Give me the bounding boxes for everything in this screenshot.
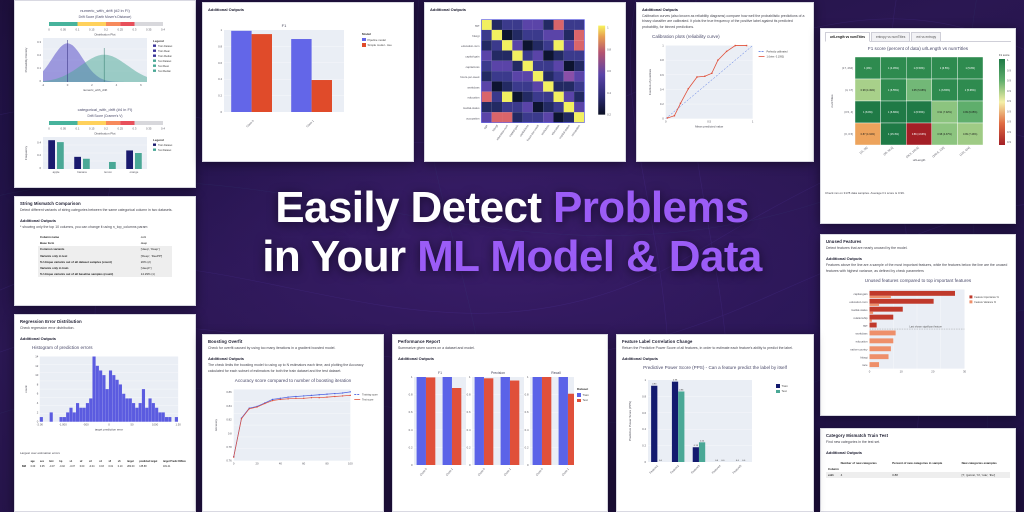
- svg-text:10: 10: [900, 370, 904, 374]
- svg-text:0: 0: [48, 28, 50, 32]
- svg-text:0.5: 0.5: [707, 120, 711, 124]
- svg-text:0.1: 0.1: [76, 127, 80, 131]
- svg-text:Mean predicted value: Mean predicted value: [695, 125, 724, 129]
- svg-text:Class 1: Class 1: [445, 467, 454, 477]
- svg-text:0.4: 0.4: [37, 140, 41, 144]
- drift-score-label: Drift Score (Earth Mover's Distance): [19, 15, 191, 19]
- svg-text:0.99: 0.99: [1007, 79, 1011, 83]
- flc-desc: Return the Predictive Power Score of all…: [622, 346, 808, 351]
- svg-text:0.4: 0.4: [161, 127, 165, 131]
- svg-text:6: 6: [37, 392, 39, 396]
- svg-text:0.25: 0.25: [118, 28, 124, 32]
- svg-text:Class 0: Class 0: [535, 467, 544, 477]
- svg-text:0.2: 0.2: [660, 102, 664, 106]
- svg-text:fnlwgt: fnlwgt: [491, 124, 499, 132]
- legend-item: Test: [577, 398, 589, 402]
- svg-text:Test Mean: Test Mean: [158, 65, 170, 68]
- cell: 0.10: [116, 464, 125, 469]
- svg-text:0.995: 0.995: [1007, 69, 1011, 73]
- svg-text:Feature3: Feature3: [690, 464, 701, 475]
- svg-text:Train Dataset: Train Dataset: [158, 45, 173, 48]
- svg-text:0.87 (4.34%): 0.87 (4.34%): [861, 133, 875, 136]
- svg-text:1 (8.9%): 1 (8.9%): [863, 111, 873, 114]
- boosting-desc2: The check limits the boosting model to u…: [208, 363, 378, 374]
- drift-chart: numeric_with_drift (#2 in FI)Drift Score…: [19, 8, 191, 103]
- svg-text:0.86 (4.63%): 0.86 (4.63%): [912, 133, 926, 136]
- f1-bar-card[interactable]: Additional Outputs F1Class 0Class 100.20…: [202, 2, 414, 162]
- svg-text:Recall: Recall: [551, 371, 561, 375]
- svg-text:0.97: 0.97: [1007, 120, 1011, 124]
- svg-text:Class 1: Class 1: [503, 467, 512, 477]
- svg-text:(130, 494]: (130, 494]: [959, 146, 971, 157]
- svg-text:0: 0: [48, 127, 50, 131]
- regression-error-title: Regression Error Distribution: [20, 319, 190, 324]
- svg-text:native-country: native-country: [850, 348, 868, 352]
- svg-text:age: age: [475, 24, 480, 28]
- svg-text:1: 1: [527, 375, 529, 379]
- f1-bar-legend: Pipeline modelSimple model - tree: [362, 38, 392, 48]
- headline-line2-accent: ML Model & Data: [417, 232, 762, 281]
- svg-text:Feature1: Feature1: [648, 464, 659, 475]
- cell: 0.00: [29, 464, 38, 469]
- svg-text:0.05: 0.05: [61, 127, 67, 131]
- svg-text:Feature4: Feature4: [711, 464, 722, 475]
- f1-bar-chart: F1Class 0Class 100.20.40.60.81: [208, 18, 358, 136]
- cell: 4: [839, 472, 891, 478]
- svg-text:0.8: 0.8: [409, 393, 413, 397]
- correlation-heatmap-card[interactable]: Additional Outputs agefnlwgteducation-nu…: [424, 2, 626, 162]
- svg-text:0.84: 0.84: [226, 404, 232, 408]
- cell: col1: [826, 472, 839, 478]
- svg-text:0.1: 0.1: [76, 28, 80, 32]
- f1-bar-subheading: Additional Outputs: [208, 7, 408, 12]
- svg-text:2: 2: [91, 83, 93, 87]
- svg-text:orange: orange: [130, 170, 139, 174]
- svg-text:Feature2: Feature2: [669, 464, 680, 475]
- svg-text:0: 0: [108, 423, 110, 427]
- svg-text:0.25: 0.25: [118, 127, 124, 131]
- svg-text:0: 0: [527, 463, 529, 467]
- svg-text:F1: F1: [282, 23, 287, 28]
- svg-text:education: education: [856, 340, 868, 344]
- svg-text:0: 0: [644, 460, 646, 464]
- performance-title: Performance Report: [398, 339, 602, 344]
- svg-text:fnlwgt: fnlwgt: [860, 356, 867, 360]
- svg-text:relationship: relationship: [853, 316, 868, 320]
- category-mismatch-subheading: Additional Outputs: [826, 450, 1010, 455]
- svg-text:8: 8: [37, 383, 39, 387]
- f1-bar-legend-title: Model: [362, 32, 392, 36]
- headline-line2-white: in Your: [262, 232, 417, 281]
- category-mismatch-card[interactable]: Category Mismatch Train Test Find new ca…: [820, 428, 1016, 512]
- svg-text:1 (6.55%): 1 (6.55%): [888, 89, 899, 92]
- calibration-plot-title: Calibration plots (reliability curve): [642, 34, 808, 39]
- svg-text:Train Mean: Train Mean: [158, 50, 171, 53]
- svg-text:Legend: Legend: [153, 39, 164, 43]
- tab-1[interactable]: entropy vs numTitles: [871, 32, 910, 41]
- svg-text:(0.5, 4]: (0.5, 4]: [844, 110, 853, 114]
- pps-bar-chart: 0.930.0Feature10.980.86Feature20.180.24F…: [622, 372, 774, 480]
- svg-text:Distribution Plot: Distribution Plot: [94, 132, 115, 136]
- svg-text:Accuracy: Accuracy: [214, 419, 218, 432]
- boosting-desc: Check for overfit caused by using too ma…: [208, 346, 378, 351]
- svg-text:1: 1: [752, 120, 754, 124]
- svg-text:80: 80: [325, 462, 329, 466]
- svg-text:0: 0: [469, 463, 471, 467]
- svg-text:0: 0: [411, 463, 413, 467]
- svg-text:race: race: [862, 364, 868, 368]
- drift-chart-svg: 00.050.10.150.20.250.30.350.4Distributio…: [19, 20, 191, 98]
- svg-text:capital-loss: capital-loss: [466, 65, 480, 69]
- headline-line-2: in Your ML Model & Data: [0, 232, 1024, 281]
- svg-text:0.76: 0.76: [226, 459, 232, 463]
- svg-text:education-num: education-num: [849, 300, 868, 304]
- svg-text:0.2: 0.2: [218, 94, 222, 98]
- svg-text:-500: -500: [83, 423, 89, 427]
- svg-text:Class 0: Class 0: [419, 467, 428, 477]
- performance-legend: TrainTest: [577, 393, 589, 403]
- regression-error-card[interactable]: Regression Error Distribution Check regr…: [14, 314, 196, 512]
- svg-text:0.4: 0.4: [660, 88, 664, 92]
- svg-text:4: 4: [37, 401, 39, 405]
- legend-item: Train: [577, 393, 589, 397]
- svg-text:0.2: 0.2: [525, 446, 529, 450]
- svg-text:(95, 96.5]: (95, 96.5]: [882, 146, 894, 157]
- svg-text:0.8: 0.8: [467, 393, 471, 397]
- prediction-error-histogram: 02468101214-2.00-1.000-50005010001.50tar…: [20, 352, 190, 444]
- svg-text:0.05: 0.05: [61, 28, 67, 32]
- svg-text:education: education: [467, 96, 479, 100]
- legend-item: Pipeline model: [362, 38, 392, 42]
- svg-text:Test Median: Test Median: [158, 70, 172, 73]
- regression-error-plot-title: Histogram of prediction errors: [20, 345, 190, 350]
- svg-text:[0, 0.5]: [0, 0.5]: [844, 132, 853, 136]
- calibration-desc: Calibration curves (also known as reliab…: [642, 14, 808, 30]
- drift-chart-svg: 00.050.10.150.20.250.30.350.4Distributio…: [19, 119, 191, 181]
- svg-text:count: count: [24, 386, 28, 393]
- svg-text:0.1: 0.1: [37, 66, 41, 70]
- performance-legend-title: Dataset: [577, 387, 589, 391]
- svg-text:(106.5, 130]: (106.5, 130]: [931, 146, 945, 159]
- svg-text:F1 score: F1 score: [999, 53, 1010, 57]
- cell: -0.04: [87, 464, 97, 469]
- svg-text:1: 1: [1007, 58, 1009, 62]
- correlation-heatmap: agefnlwgteducation-numcapital-gaincapita…: [430, 15, 620, 147]
- cell: 0.01: [106, 464, 115, 469]
- svg-text:Class 1: Class 1: [561, 467, 570, 477]
- svg-text:urlLength: urlLength: [913, 158, 926, 162]
- legend-item: Test: [776, 389, 788, 393]
- cell: 0.00: [78, 464, 87, 469]
- svg-text:0.4: 0.4: [642, 428, 646, 432]
- legend-item: Train: [776, 384, 788, 388]
- svg-text:30: 30: [963, 370, 967, 374]
- svg-text:0.8: 0.8: [642, 395, 646, 399]
- svg-text:Class 1: Class 1: [305, 119, 315, 129]
- svg-text:-2: -2: [42, 83, 45, 87]
- svg-text:1 (15.3%): 1 (15.3%): [888, 133, 899, 136]
- svg-text:2: 2: [37, 411, 39, 415]
- svg-text:Precision: Precision: [491, 371, 505, 375]
- row-index: 898: [20, 464, 29, 469]
- svg-text:1: 1: [662, 44, 664, 48]
- svg-text:6: 6: [140, 83, 142, 87]
- svg-text:0.4: 0.4: [607, 91, 611, 95]
- svg-text:Predictive Power Score (PPS): Predictive Power Score (PPS): [628, 401, 632, 441]
- svg-text:Class 0: Class 0: [245, 119, 255, 129]
- boosting-overfit-card[interactable]: Boosting Overfit Check for overfit cause…: [202, 334, 384, 512]
- flc-subheading: Additional Outputs: [622, 356, 808, 361]
- svg-text:Training score: Training score: [362, 394, 378, 397]
- svg-text:Perfectly calibrated: Perfectly calibrated: [767, 51, 789, 54]
- svg-text:0.6: 0.6: [409, 411, 413, 415]
- svg-text:0.6: 0.6: [218, 61, 222, 65]
- tab-2[interactable]: ext vs entropy: [911, 32, 941, 41]
- svg-text:0.2: 0.2: [37, 153, 41, 157]
- f1-heatmap-tabs[interactable]: urlLength vs numTitlesentropy vs numTitl…: [825, 32, 1011, 42]
- svg-text:0: 0: [233, 462, 235, 466]
- svg-text:-2.00: -2.00: [37, 423, 44, 427]
- boosting-subheading: Additional Outputs: [208, 356, 378, 361]
- svg-text:0.8: 0.8: [525, 393, 529, 397]
- drift-chart-title: categorical_with_drift (#4 in FI): [19, 107, 191, 112]
- performance-subheading: Additional Outputs: [398, 356, 602, 361]
- svg-text:1 (6.53%): 1 (6.53%): [914, 111, 925, 114]
- svg-text:0.2: 0.2: [409, 446, 413, 450]
- table-row: col140.88['f', 'gonna', 'hi', 'role', 't…: [826, 472, 1010, 478]
- svg-text:60: 60: [302, 462, 306, 466]
- cell: -0.07: [47, 464, 57, 469]
- cell: -0.02: [57, 464, 67, 469]
- svg-text:(4, 17]: (4, 17]: [845, 88, 853, 92]
- svg-text:50: 50: [130, 423, 134, 427]
- boosting-accuracy-chart: 0.760.780.80.820.840.86020406080100Accur…: [208, 385, 378, 481]
- svg-text:marital-status: marital-status: [463, 106, 480, 110]
- calibration-card[interactable]: Additional Outputs Calibration curves (a…: [636, 2, 814, 162]
- calibration-curve: 00.20.40.60.8100.51Mean predicted valueF…: [642, 41, 808, 141]
- svg-text:0.35: 0.35: [146, 28, 152, 32]
- svg-text:1 (6.69%): 1 (6.69%): [888, 111, 899, 114]
- svg-text:occupation: occupation: [570, 123, 581, 137]
- svg-text:capital-gain: capital-gain: [853, 292, 868, 296]
- svg-text:1: 1: [469, 375, 471, 379]
- svg-text:0.8: 0.8: [218, 44, 222, 48]
- svg-text:apple: apple: [53, 170, 60, 174]
- svg-text:0.82: 0.82: [226, 418, 232, 422]
- svg-text:numTitles: numTitles: [830, 94, 834, 107]
- legend-item: Simple model - tree: [362, 43, 392, 47]
- svg-text:0.4: 0.4: [409, 428, 413, 432]
- svg-text:0.99 (6.05%): 0.99 (6.05%): [963, 111, 977, 114]
- cell: ['f', 'gonna', 'hi', 'role', 'the']: [960, 472, 1010, 478]
- svg-text:(96.5, 106.5]: (96.5, 106.5]: [905, 146, 920, 159]
- svg-text:0.4: 0.4: [218, 77, 222, 81]
- svg-text:10: 10: [35, 374, 39, 378]
- performance-desc: Summarize given scores on a dataset and …: [398, 346, 602, 351]
- svg-text:1000: 1000: [152, 423, 159, 427]
- svg-text:1: 1: [220, 28, 222, 32]
- svg-text:age: age: [483, 123, 489, 129]
- svg-text:0: 0: [39, 166, 41, 170]
- regression-error-bottom-note: Largest over estimation errors: [20, 451, 190, 455]
- svg-text:0.6: 0.6: [607, 69, 611, 73]
- svg-text:0: 0: [869, 370, 871, 374]
- performance-report-card[interactable]: Performance Report Summarize given score…: [392, 334, 608, 512]
- f1-heatmap-plot-title: F1 score (percent of data) urlLength vs …: [825, 46, 1011, 51]
- heatmap-subheading: Additional Outputs: [430, 7, 620, 12]
- svg-text:4: 4: [116, 83, 118, 87]
- svg-text:numeric_with_drift: numeric_with_drift: [83, 88, 108, 92]
- svg-text:F1: F1: [438, 371, 442, 375]
- headline-line-1: Easily Detect Problems: [0, 183, 1024, 232]
- flc-plot-title: Predictive Power Score (PPS) - Can a fea…: [622, 365, 808, 370]
- svg-text:0.3: 0.3: [133, 28, 137, 32]
- svg-text:1 (9%): 1 (9%): [864, 67, 872, 70]
- svg-text:hours-per-week: hours-per-week: [460, 75, 480, 79]
- svg-text:0: 0: [67, 83, 69, 87]
- svg-text:0.3: 0.3: [133, 127, 137, 131]
- svg-text:lemon: lemon: [104, 170, 112, 174]
- svg-text:0.4: 0.4: [161, 28, 165, 32]
- svg-text:Train Median: Train Median: [158, 55, 173, 58]
- svg-text:0.15: 0.15: [89, 127, 95, 131]
- svg-text:0.8: 0.8: [660, 58, 664, 62]
- svg-text:0.6: 0.6: [525, 411, 529, 415]
- svg-text:0.2: 0.2: [607, 113, 611, 117]
- svg-text:capital-gain: capital-gain: [465, 55, 480, 59]
- svg-text:40: 40: [279, 462, 283, 466]
- svg-text:0.3: 0.3: [37, 40, 41, 44]
- svg-text:20: 20: [255, 462, 259, 466]
- svg-text:0.985: 0.985: [1007, 89, 1011, 93]
- cell: 0.03: [97, 464, 106, 469]
- category-mismatch-desc: Find new categories in the test set.: [826, 440, 1010, 445]
- drift-panel-card[interactable]: numeric_with_drift (#2 in FI)Drift Score…: [14, 0, 196, 188]
- svg-text:target prediction error: target prediction error: [95, 428, 123, 432]
- svg-text:Feature Variance %: Feature Variance %: [974, 301, 996, 304]
- svg-text:0.6: 0.6: [467, 411, 471, 415]
- svg-text:education-num: education-num: [461, 44, 480, 48]
- svg-text:0.975: 0.975: [1007, 110, 1011, 114]
- drift-score-label: Drift Score (Cramer's V): [19, 114, 191, 118]
- svg-text:banana: banana: [77, 170, 87, 174]
- svg-text:0.965: 0.965: [1007, 130, 1011, 134]
- svg-text:1 (5.66%): 1 (5.66%): [965, 89, 976, 92]
- svg-text:-1.000: -1.000: [59, 423, 67, 427]
- svg-text:1 (6.65%): 1 (6.65%): [939, 89, 950, 92]
- cell: 181.41: [161, 464, 190, 469]
- svg-text:0.98 (4.37%): 0.98 (4.37%): [937, 133, 951, 136]
- svg-text:Test Dataset: Test Dataset: [158, 149, 172, 152]
- calibration-subheading: Additional Outputs: [642, 7, 808, 12]
- cell: -0.07: [68, 464, 78, 469]
- svg-text:1 (6.5%): 1 (6.5%): [940, 67, 950, 70]
- svg-text:0.86: 0.86: [226, 391, 232, 395]
- feature-label-correlation-card[interactable]: Feature Label Correlation Change Return …: [616, 334, 814, 512]
- svg-text:0: 0: [665, 120, 667, 124]
- svg-text:0.35: 0.35: [146, 127, 152, 131]
- svg-text:0.91 (7.02%): 0.91 (7.02%): [937, 111, 951, 114]
- svg-text:Test score: Test score: [362, 399, 374, 402]
- svg-text:fnlwgt: fnlwgt: [472, 34, 479, 38]
- svg-text:0.2: 0.2: [104, 28, 108, 32]
- svg-text:1: 1: [607, 26, 609, 30]
- pps-legend: TrainTest: [776, 384, 788, 394]
- f1-score-heatmap: 1 (9%)1 (4.45%)1 (6.50%)1 (6.5%)1 (5.8%)…: [825, 53, 1011, 183]
- svg-text:0.2: 0.2: [37, 53, 41, 57]
- svg-text:0.96: 0.96: [1007, 140, 1011, 144]
- svg-text:20: 20: [931, 370, 935, 374]
- svg-text:0: 0: [662, 117, 664, 121]
- boosting-plot-title: Accuracy score compared to number of boo…: [208, 378, 378, 383]
- svg-text:0.4: 0.4: [467, 428, 471, 432]
- svg-text:Probability Density: Probability Density: [24, 47, 28, 72]
- cell: 282.00: [125, 464, 137, 469]
- svg-text:0.6: 0.6: [642, 411, 646, 415]
- performance-bar-charts: F1Class 0Class 100.20.40.60.81PrecisionC…: [398, 367, 574, 491]
- svg-text:1: 1: [644, 378, 646, 382]
- svg-text:1: 1: [411, 375, 413, 379]
- svg-text:0.98 (4.49%): 0.98 (4.49%): [861, 89, 875, 92]
- svg-text:1 (brier: 0.1093): 1 (brier: 0.1093): [767, 56, 785, 59]
- category-mismatch-title: Category Mismatch Train Test: [826, 433, 1010, 438]
- tab-0[interactable]: urlLength vs numTitles: [825, 32, 870, 42]
- svg-text:workclass: workclass: [540, 123, 551, 136]
- svg-text:0.95 (5.08%): 0.95 (5.08%): [912, 89, 926, 92]
- svg-text:Frequency: Frequency: [24, 145, 28, 160]
- svg-text:0: 0: [220, 110, 222, 114]
- category-mismatch-table: Number of new categoriesPercent of new c…: [826, 459, 1010, 478]
- svg-text:[21, 95]: [21, 95]: [859, 146, 869, 155]
- svg-text:0.2: 0.2: [104, 127, 108, 131]
- unused-features-chart: capital-gaineducation-nummarital-statusr…: [826, 285, 1010, 383]
- regression-error-subheading: Additional Outputs: [20, 336, 190, 341]
- svg-text:0.15: 0.15: [89, 28, 95, 32]
- svg-text:0.2: 0.2: [642, 444, 646, 448]
- svg-text:0.6: 0.6: [660, 73, 664, 77]
- svg-text:Feature5: Feature5: [732, 464, 743, 475]
- page-title: Easily Detect Problems in Your ML Model …: [0, 183, 1024, 282]
- svg-text:workclass: workclass: [467, 85, 480, 89]
- headline-line1-white: Easily Detect: [275, 183, 553, 232]
- svg-text:0.8: 0.8: [228, 432, 232, 436]
- headline-line1-accent: Problems: [553, 183, 749, 232]
- svg-text:1 (4.45%): 1 (4.45%): [888, 67, 899, 70]
- drift-chart: categorical_with_drift (#4 in FI)Drift S…: [19, 107, 191, 186]
- svg-text:0.78: 0.78: [226, 445, 232, 449]
- svg-text:Test Dataset: Test Dataset: [158, 60, 172, 63]
- boosting-title: Boosting Overfit: [208, 339, 378, 344]
- drift-chart-title: numeric_with_drift (#2 in FI): [19, 8, 191, 13]
- regression-error-desc: Check regression error distribution.: [20, 326, 190, 331]
- svg-text:workclass: workclass: [855, 332, 868, 336]
- svg-text:Distribution Plot: Distribution Plot: [94, 33, 115, 37]
- svg-text:Class 0: Class 0: [477, 467, 486, 477]
- svg-text:occupation: occupation: [466, 116, 480, 120]
- cell: 0.05: [38, 464, 47, 469]
- svg-text:Last shown significant feature: Last shown significant feature: [909, 326, 942, 329]
- svg-text:0.98: 0.98: [1007, 99, 1011, 103]
- svg-text:Feature Importance %: Feature Importance %: [974, 296, 999, 299]
- svg-text:Legend: Legend: [153, 138, 164, 142]
- svg-text:1.50: 1.50: [175, 423, 181, 427]
- svg-text:1 (5.8%): 1 (5.8%): [965, 67, 975, 70]
- flc-title: Feature Label Correlation Change: [622, 339, 808, 344]
- svg-text:100: 100: [348, 462, 353, 466]
- svg-text:0.8: 0.8: [607, 47, 611, 51]
- cell: 0.88: [890, 472, 959, 478]
- svg-text:(17, 264]: (17, 264]: [842, 66, 853, 70]
